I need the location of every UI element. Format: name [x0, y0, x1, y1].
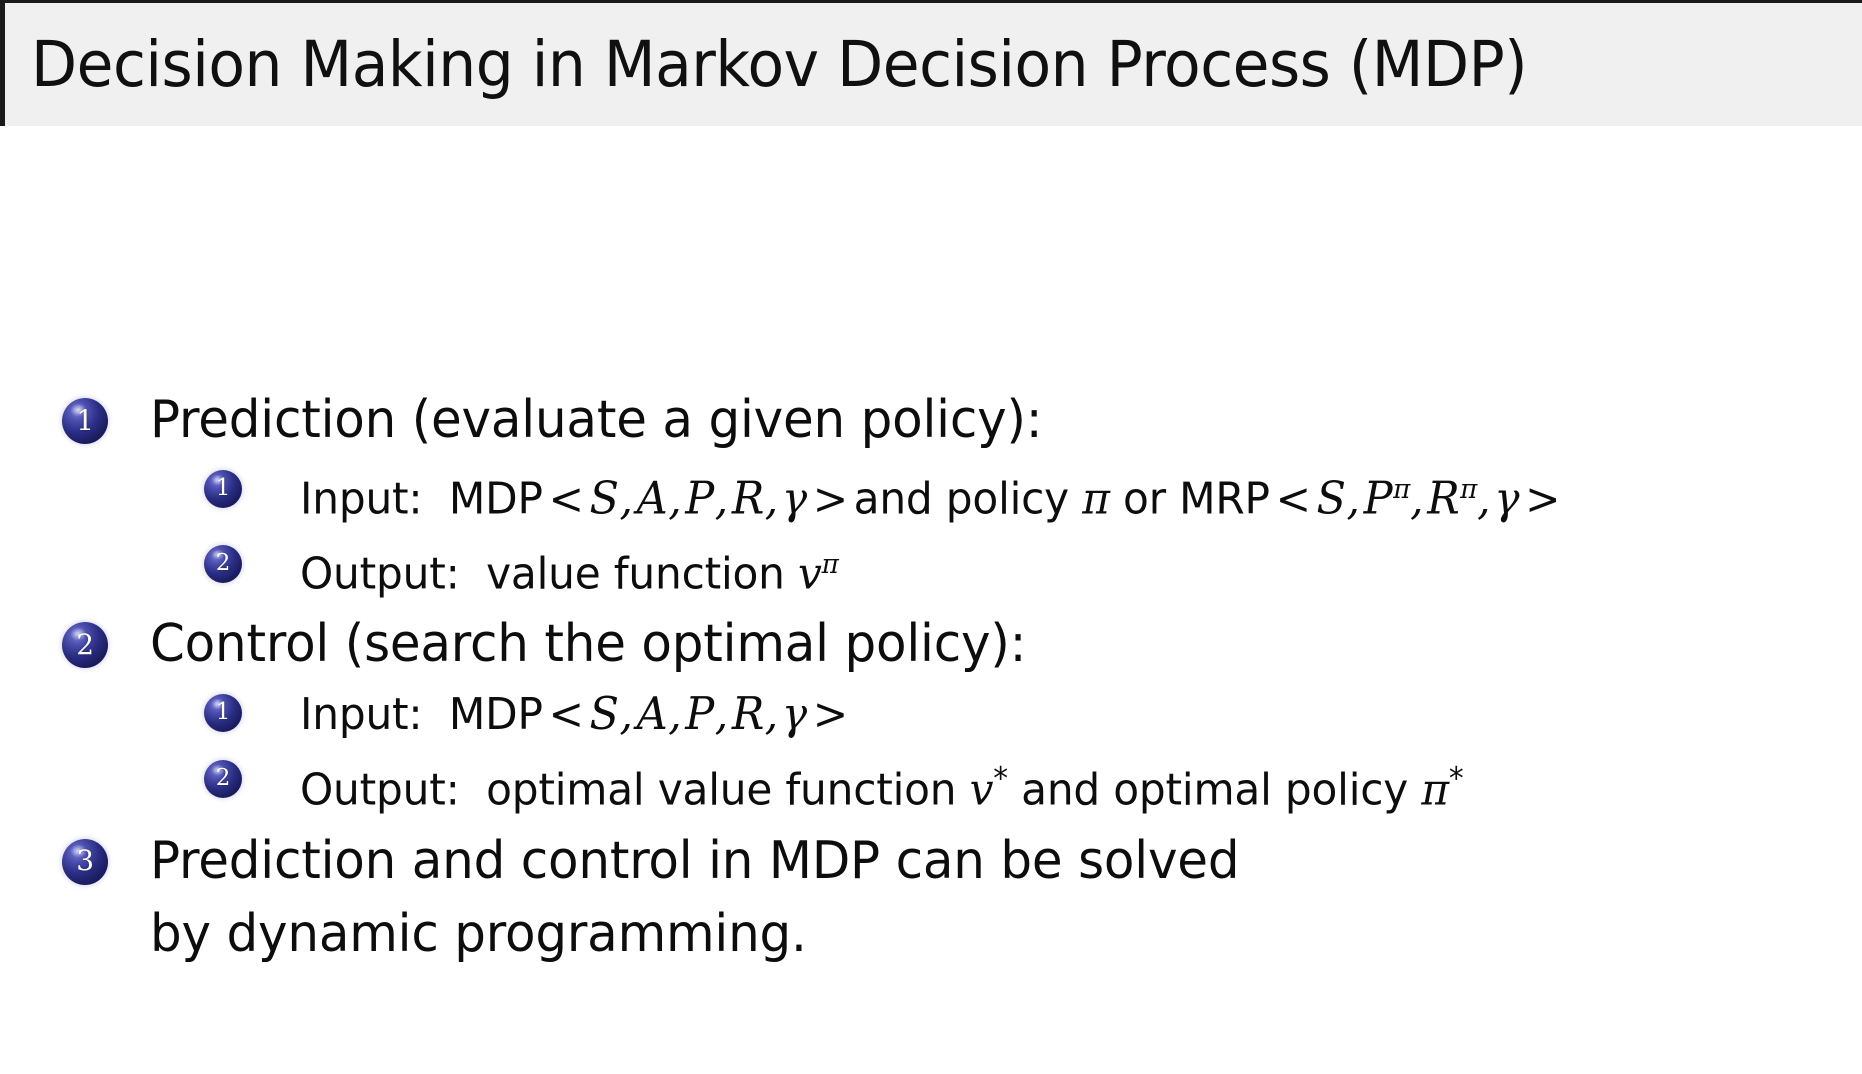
star-superscript: * [993, 761, 1008, 797]
bullet-number-icon: 2 [62, 622, 108, 668]
sub-label-lead: Input: [300, 689, 422, 740]
list-item: 2 Output: value function vπ [180, 532, 1862, 607]
gamma-symbol: γ [1494, 474, 1519, 525]
gamma-symbol: γ [782, 689, 807, 740]
v-symbol: v [970, 765, 994, 816]
pi-symbol: π [1082, 474, 1110, 525]
mrp-tuple-name: MRP [1179, 474, 1270, 525]
v-symbol: v [798, 548, 822, 599]
slide: Decision Making in Markov Decision Proce… [0, 0, 1862, 1074]
sub-label-lead: Output: [300, 548, 460, 599]
list-item-label: Prediction and control in MDP can be sol… [150, 825, 1283, 971]
list-item: 1 Input: MDP<S,A,P,R,γ>and policy π or M… [180, 457, 1862, 532]
list-item-label: Input: MDP<S,A,P,R,γ>and policy π or MRP… [300, 457, 1800, 532]
enumerate-level-1: 1 Prediction (evaluate a given policy): … [0, 384, 1862, 971]
list-item-label: Prediction (evaluate a given policy): [150, 384, 1794, 457]
reward-symbol: R [732, 472, 765, 525]
transition-symbol: P [685, 687, 714, 740]
mdp-tuple-name: MDP [449, 689, 543, 740]
angle-open: < [543, 689, 590, 740]
slide-title-bar: Decision Making in Markov Decision Proce… [0, 0, 1862, 126]
bullet-number-icon: 1 [204, 694, 242, 732]
pi-symbol: π [1421, 765, 1449, 816]
list-item-label: Control (search the optimal policy): [150, 608, 1794, 681]
sub-label-lead: Output: [300, 765, 460, 816]
slide-content: 1 Prediction (evaluate a given policy): … [0, 384, 1862, 973]
angle-open: < [543, 474, 590, 525]
transition-symbol: P [685, 472, 714, 525]
angle-close: > [1519, 474, 1566, 525]
bullet-number-icon: 2 [204, 760, 242, 798]
pi-superscript: π [1460, 474, 1477, 505]
list-item: 2 Output: optimal value function v* and … [180, 747, 1862, 823]
list-item: 2 Control (search the optimal policy): 1… [0, 608, 1862, 823]
list-item: 3 Prediction and control in MDP can be s… [0, 825, 1862, 971]
pi-superscript: π [822, 549, 839, 580]
state-space-symbol: S [590, 687, 620, 740]
gamma-symbol: γ [782, 474, 807, 525]
optimal-value-function-text: optimal value function [486, 765, 956, 816]
list-item-label: Output: value function vπ [300, 532, 1800, 607]
slide-body: 1 Prediction (evaluate a given policy): … [0, 126, 1862, 1074]
bullet-number-icon: 2 [204, 545, 242, 583]
bullet-number-icon: 1 [62, 398, 108, 444]
or-text: or [1123, 474, 1166, 525]
list-item: 1 Prediction (evaluate a given policy): … [0, 384, 1862, 606]
bullet-number-icon: 3 [62, 839, 108, 885]
transition-symbol: P [1364, 472, 1393, 525]
list-item-label: Output: optimal value function v* and op… [300, 747, 1800, 823]
enumerate-level-2: 1 Input: MDP<S,A,P,R,γ>and policy π or M… [180, 457, 1862, 606]
angle-open: < [1270, 474, 1317, 525]
page-title: Decision Making in Markov Decision Proce… [31, 33, 1527, 96]
state-space-symbol: S [1317, 472, 1347, 525]
pi-superscript: π [1393, 474, 1410, 505]
value-function-text: value function [486, 548, 785, 599]
list-item: 1 Input: MDP<S,A,P,R,γ> [180, 681, 1862, 747]
action-space-symbol: A [637, 472, 669, 525]
bullet-number-icon: 1 [204, 470, 242, 508]
list-item-label: Input: MDP<S,A,P,R,γ> [300, 681, 1800, 747]
mdp-tuple-name: MDP [449, 474, 543, 525]
angle-close: > [807, 689, 854, 740]
conjunction-text: and policy [854, 474, 1069, 525]
reward-symbol: R [1427, 472, 1460, 525]
enumerate-level-2: 1 Input: MDP<S,A,P,R,γ> 2 Output: optima… [180, 681, 1862, 823]
sub-label-lead: Input: [300, 474, 422, 525]
angle-close: > [807, 474, 854, 525]
reward-symbol: R [732, 687, 765, 740]
optimal-policy-text: and optimal policy [1021, 765, 1408, 816]
star-superscript: * [1449, 761, 1464, 797]
state-space-symbol: S [590, 472, 620, 525]
action-space-symbol: A [637, 687, 669, 740]
